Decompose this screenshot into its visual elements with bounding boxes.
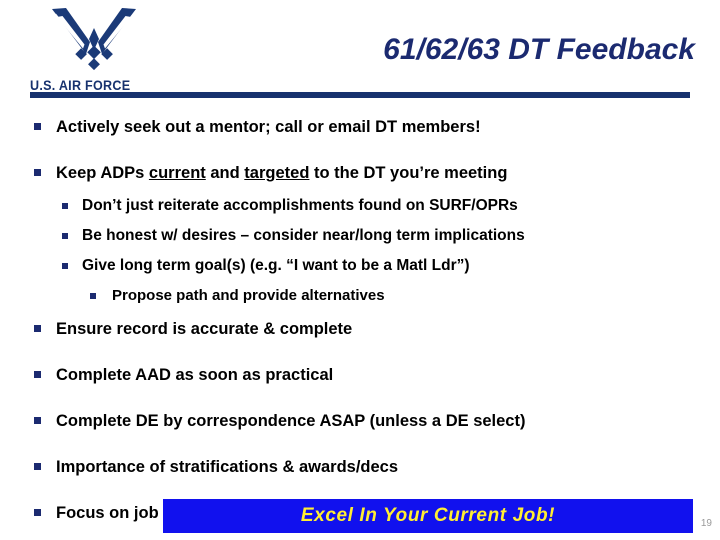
text-run: Importance of stratifications & awards/d… xyxy=(56,458,398,476)
list-item: Complete DE by correspondence ASAP (unle… xyxy=(0,403,720,439)
text-run: Propose path and provide alternatives xyxy=(112,287,385,304)
emphasis-underline: current xyxy=(149,164,206,182)
list-item-label: Be honest w/ desires – consider near/lon… xyxy=(82,221,720,251)
text-run: Complete DE by correspondence ASAP (unle… xyxy=(56,412,525,430)
list-gap xyxy=(0,439,720,449)
footer-banner: Excel In Your Current Job! xyxy=(163,499,693,533)
list-item-label: Complete DE by correspondence ASAP (unle… xyxy=(56,403,720,439)
square-bullet-icon xyxy=(90,293,96,299)
text-run: Be honest w/ desires – consider near/lon… xyxy=(82,227,525,244)
text-run: Complete AAD as soon as practical xyxy=(56,366,333,384)
list-item-label: Complete AAD as soon as practical xyxy=(56,357,720,393)
square-bullet-icon xyxy=(34,463,41,470)
list-item: Importance of stratifications & awards/d… xyxy=(0,449,720,485)
list-gap xyxy=(0,145,720,155)
list-item: Don’t just reiterate accomplishments fou… xyxy=(0,191,720,221)
square-bullet-icon xyxy=(34,417,41,424)
bullet-list: Actively seek out a mentor; call or emai… xyxy=(0,109,720,531)
emphasis-underline: targeted xyxy=(244,164,309,182)
list-item: Propose path and provide alternatives xyxy=(0,281,720,311)
square-bullet-icon xyxy=(62,203,68,209)
square-bullet-icon xyxy=(34,509,41,516)
page-title: 61/62/63 DT Feedback xyxy=(270,33,695,67)
list-item: Be honest w/ desires – consider near/lon… xyxy=(0,221,720,251)
square-bullet-icon xyxy=(34,371,41,378)
list-item-label: Propose path and provide alternatives xyxy=(112,281,720,311)
list-item-label: Keep ADPs current and targeted to the DT… xyxy=(56,155,720,191)
list-item-label: Importance of stratifications & awards/d… xyxy=(56,449,720,485)
square-bullet-icon xyxy=(34,325,41,332)
us-air-force-wings-logo-icon xyxy=(46,6,142,74)
list-item-label: Ensure record is accurate & complete xyxy=(56,311,720,347)
list-item: Ensure record is accurate & complete xyxy=(0,311,720,347)
square-bullet-icon xyxy=(62,263,68,269)
list-gap xyxy=(0,347,720,357)
text-run: to the DT you’re meeting xyxy=(309,164,507,182)
list-item: Keep ADPs current and targeted to the DT… xyxy=(0,155,720,191)
square-bullet-icon xyxy=(34,123,41,130)
square-bullet-icon xyxy=(62,233,68,239)
text-run: Give long term goal(s) (e.g. “I want to … xyxy=(82,257,470,274)
list-item: Actively seek out a mentor; call or emai… xyxy=(0,109,720,145)
list-item: Complete AAD as soon as practical xyxy=(0,357,720,393)
square-bullet-icon xyxy=(34,169,41,176)
header-divider-rule xyxy=(30,92,690,98)
text-run: Actively seek out a mentor; call or emai… xyxy=(56,118,481,136)
list-gap xyxy=(0,485,720,495)
list-gap xyxy=(0,393,720,403)
slide-header: U.S. AIR FORCE 61/62/63 DT Feedback xyxy=(0,0,720,100)
list-item-label: Don’t just reiterate accomplishments fou… xyxy=(82,191,720,221)
text-run: and xyxy=(206,164,245,182)
list-item-label: Actively seek out a mentor; call or emai… xyxy=(56,109,720,145)
af-wordmark: U.S. AIR FORCE xyxy=(30,78,130,93)
footer-banner-label: Excel In Your Current Job! xyxy=(301,505,555,527)
text-run: Ensure record is accurate & complete xyxy=(56,320,352,338)
text-run: Don’t just reiterate accomplishments fou… xyxy=(82,197,518,214)
list-item-label: Give long term goal(s) (e.g. “I want to … xyxy=(82,251,720,281)
list-item: Give long term goal(s) (e.g. “I want to … xyxy=(0,251,720,281)
text-run: Keep ADPs xyxy=(56,164,149,182)
page-number: 19 xyxy=(701,518,712,529)
